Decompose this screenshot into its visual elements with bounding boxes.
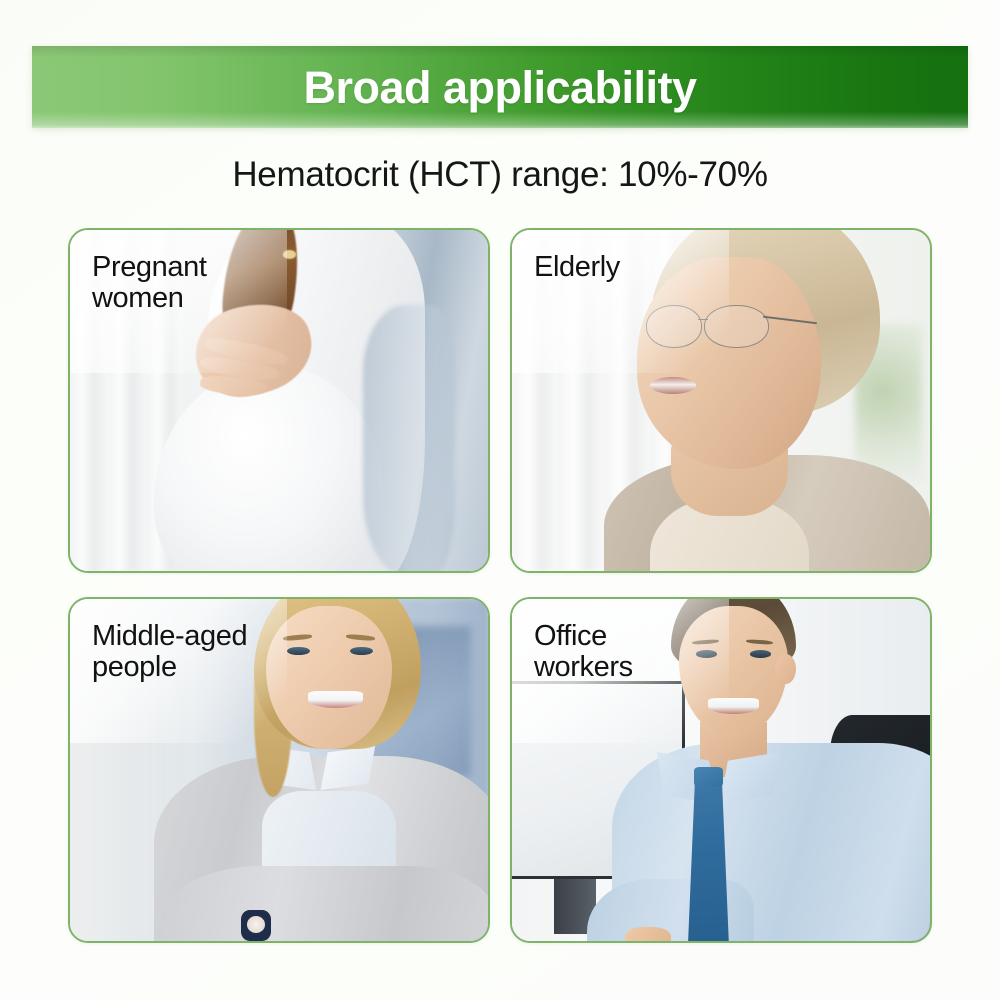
applicability-card-grid: Pregnant women Elderly — [68, 228, 932, 943]
photo-arm — [587, 879, 754, 943]
photo-ring — [283, 250, 296, 258]
card-label-office-workers: Office workers — [534, 621, 633, 683]
photo-cardigan-fold — [363, 305, 455, 573]
photo-ear — [775, 654, 796, 685]
photo-eye-left — [696, 650, 717, 658]
photo-face — [679, 606, 788, 736]
card-label-elderly: Elderly — [534, 252, 620, 283]
card-office-workers[interactable]: Office workers — [510, 597, 932, 943]
photo-crossed-arms — [162, 866, 490, 943]
card-pregnant-women[interactable]: Pregnant women — [68, 228, 490, 573]
card-middle-aged-people[interactable]: Middle-aged people — [68, 597, 490, 943]
banner-bar: Broad applicability — [32, 46, 968, 128]
photo-mouth — [650, 377, 696, 394]
photo-eye-right — [350, 647, 373, 655]
card-elderly[interactable]: Elderly — [510, 228, 932, 573]
hct-range-subtitle: Hematocrit (HCT) range: 10%-70% — [0, 155, 1000, 195]
card-label-pregnant-women: Pregnant women — [92, 252, 207, 314]
page-root: Broad applicability Hematocrit (HCT) ran… — [0, 0, 1000, 1000]
banner-title: Broad applicability — [303, 65, 696, 110]
card-label-middle-aged-people: Middle-aged people — [92, 621, 247, 683]
photo-face — [637, 257, 821, 468]
photo-glasses-bridge — [698, 319, 708, 321]
photo-smile — [708, 698, 758, 713]
photo-hand — [625, 927, 671, 943]
photo-glasses-lens-left — [646, 305, 702, 348]
photo-eye-right — [750, 650, 771, 658]
header-banner: Broad applicability — [32, 46, 968, 128]
photo-necktie-knot — [694, 767, 723, 788]
photo-glasses-lens-right — [704, 305, 769, 348]
